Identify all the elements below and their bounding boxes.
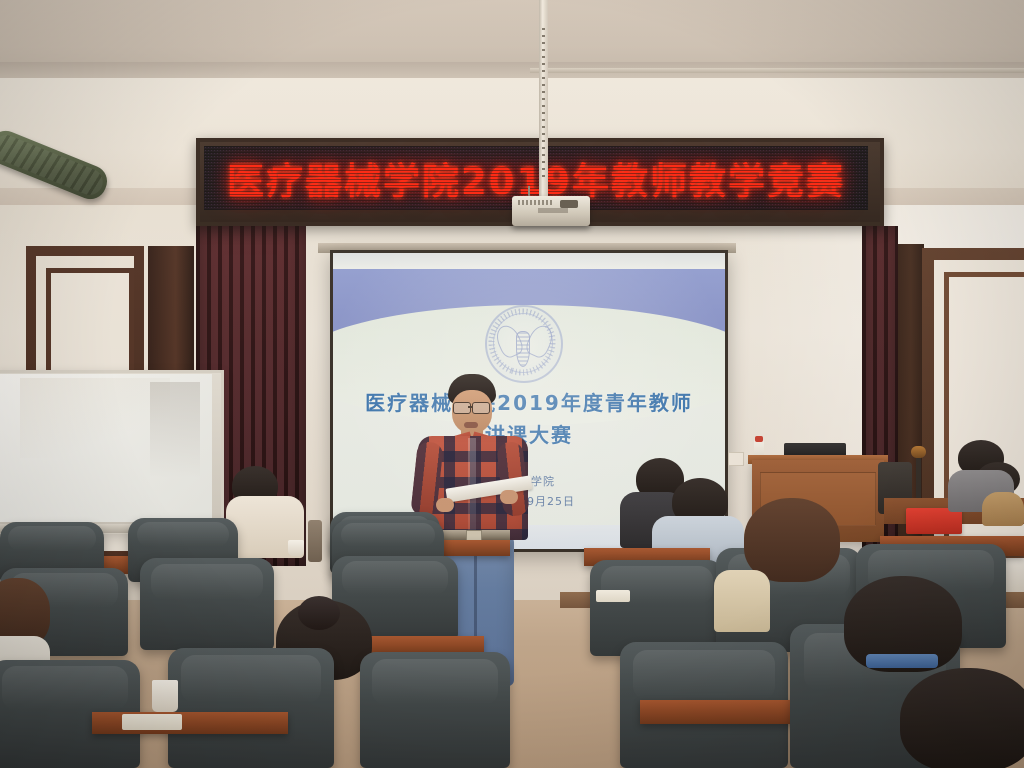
presenter-hand-left	[436, 498, 454, 512]
projector-pole-holes	[542, 28, 545, 178]
projector-vent	[518, 200, 552, 205]
wall-socket	[728, 452, 744, 466]
ceiling-rail	[530, 68, 1024, 73]
attendee-body-patterned-top	[714, 570, 770, 632]
presenter-mouth	[464, 422, 478, 428]
judge-body-2	[982, 492, 1024, 526]
napkin-front-desk	[122, 714, 182, 730]
slide-top-strip	[333, 253, 725, 269]
paper-cup-front	[152, 680, 178, 712]
papers-mid-desk	[596, 590, 630, 602]
seat-front-3	[360, 652, 510, 768]
whiteboard-reflection	[20, 378, 170, 458]
attendee-hair-bun	[298, 596, 340, 630]
microphone-stand	[916, 452, 921, 500]
attendee-collar-blue	[866, 654, 938, 668]
presenter-glasses-right	[472, 402, 490, 414]
seat-mid-2	[140, 558, 274, 650]
whiteboard-reflection-2	[150, 382, 200, 478]
attendee-head-long-hair	[744, 498, 840, 582]
presenter-glasses-bridge	[468, 406, 473, 408]
lecture-hall-photo: 医疗器械学院2019年教师教学竞赛 医疗器械学院2019年度青年教师 讲课大赛 …	[0, 0, 1024, 768]
slide-title-line1: 医疗器械学院2019年度青年教师	[343, 387, 715, 416]
projector-lens	[560, 200, 578, 208]
emblem-center-body	[516, 331, 530, 367]
water-bottle-cap	[755, 436, 763, 442]
paper-cup-left	[288, 540, 304, 556]
seat-front-2	[168, 648, 334, 768]
presenter-hand-right	[500, 490, 518, 504]
thermos-flask	[308, 520, 322, 562]
attendee-head-front-right	[900, 668, 1024, 768]
slide-title-line2: 讲课大赛	[343, 419, 715, 448]
presenter-glasses-left	[453, 402, 471, 414]
projector-label	[538, 208, 568, 213]
microphone-head-icon	[911, 446, 926, 458]
